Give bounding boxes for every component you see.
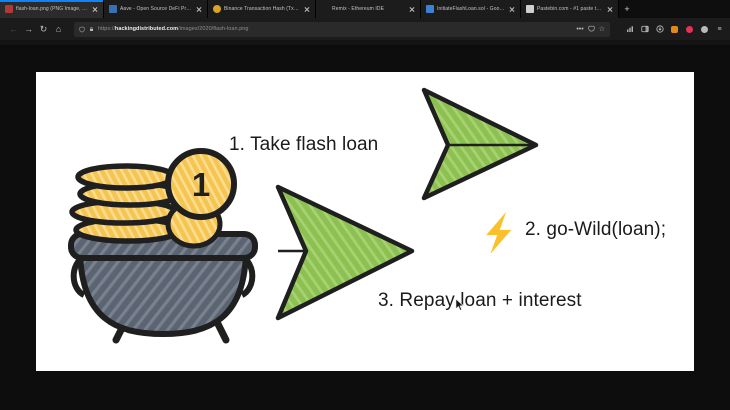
navigation-toolbar: ← → ↻ ⌂ https://hackingdistributed.com/i… (0, 18, 730, 40)
arrow-take-flash-loan (424, 90, 536, 198)
tab-aave[interactable]: Aave - Open Source DeFi Pro… (104, 0, 208, 18)
tab-title: Remix - Ethereum IDE (332, 5, 405, 13)
flash-loan-image: 1 (36, 72, 694, 371)
address-bar[interactable]: https://hackingdistributed.com/images/20… (74, 22, 610, 37)
tab-favicon-icon (526, 5, 534, 13)
tab-title: Aave - Open Source DeFi Pro… (120, 5, 192, 13)
browser-chrome: flash-loan.png (PNG Image, 3… Aave - Ope… (0, 0, 730, 45)
lightning-bolt-icon (486, 212, 511, 254)
tab-favicon-icon (5, 5, 13, 13)
tab-pastebin[interactable]: Pastebin.com - #1 paste tool s… (521, 0, 619, 18)
account-avatar-icon[interactable] (700, 25, 709, 34)
pocket-icon[interactable] (588, 25, 595, 34)
downloads-icon[interactable] (655, 25, 664, 34)
close-icon[interactable] (91, 5, 99, 13)
lock-icon[interactable] (88, 25, 95, 33)
url-text: https://hackingdistributed.com/images/20… (98, 25, 573, 34)
tab-title: flash-loan.png (PNG Image, 3… (16, 5, 88, 13)
extension-red-icon[interactable] (685, 25, 694, 34)
tab-binance-transaction-hash[interactable]: Binance Transaction Hash (Tx… (208, 0, 316, 18)
tab-initiate-flash-loan-sol[interactable]: InitiateFlashLoan.sol - Google… (421, 0, 521, 18)
bookmark-star-icon[interactable]: ☆ (599, 26, 605, 33)
close-icon[interactable] (195, 5, 203, 13)
shield-icon[interactable] (78, 25, 85, 33)
cauldron-illustration: 1 (71, 151, 255, 340)
close-icon[interactable] (303, 5, 311, 13)
address-bar-actions: ••• ☆ (576, 25, 606, 34)
step-3-label: 3. Repay loan + interest (378, 290, 582, 312)
close-icon[interactable] (606, 5, 614, 13)
browser-window: flash-loan.png (PNG Image, 3… Aave - Ope… (0, 0, 730, 410)
close-icon[interactable] (508, 5, 516, 13)
image-viewer[interactable]: 1 (0, 45, 730, 410)
step-1-label: 1. Take flash loan (229, 134, 378, 156)
extension-orange-icon[interactable] (670, 25, 679, 34)
back-icon[interactable]: ← (6, 22, 21, 37)
home-icon[interactable]: ⌂ (51, 22, 66, 37)
tab-favicon-icon (109, 5, 117, 13)
coin-number-label: 1 (192, 166, 210, 203)
tab-favicon-icon (321, 5, 329, 13)
tab-favicon-icon (426, 5, 434, 13)
tab-favicon-icon (213, 5, 221, 13)
library-icon[interactable] (625, 25, 634, 34)
page-actions-icon[interactable]: ••• (576, 26, 583, 33)
forward-icon[interactable]: → (21, 22, 36, 37)
app-menu-icon[interactable]: ≡ (715, 25, 724, 34)
toolbar-icons: ≡ (615, 25, 724, 34)
mouse-cursor (455, 298, 465, 312)
new-tab-button[interactable]: + (619, 0, 635, 18)
tab-remix-ethereum-ide[interactable]: Remix - Ethereum IDE (316, 0, 421, 18)
tab-title: Pastebin.com - #1 paste tool s… (537, 5, 603, 13)
sidebar-icon[interactable] (640, 25, 649, 34)
tab-title: Binance Transaction Hash (Tx… (224, 5, 300, 13)
close-icon[interactable] (408, 5, 416, 13)
tab-flash-loan-png[interactable]: flash-loan.png (PNG Image, 3… (0, 0, 104, 18)
tab-title: InitiateFlashLoan.sol - Google… (437, 5, 505, 13)
reload-icon[interactable]: ↻ (36, 22, 51, 37)
tab-strip: flash-loan.png (PNG Image, 3… Aave - Ope… (0, 0, 730, 18)
step-2-label: 2. go-Wild(loan); (525, 219, 666, 241)
